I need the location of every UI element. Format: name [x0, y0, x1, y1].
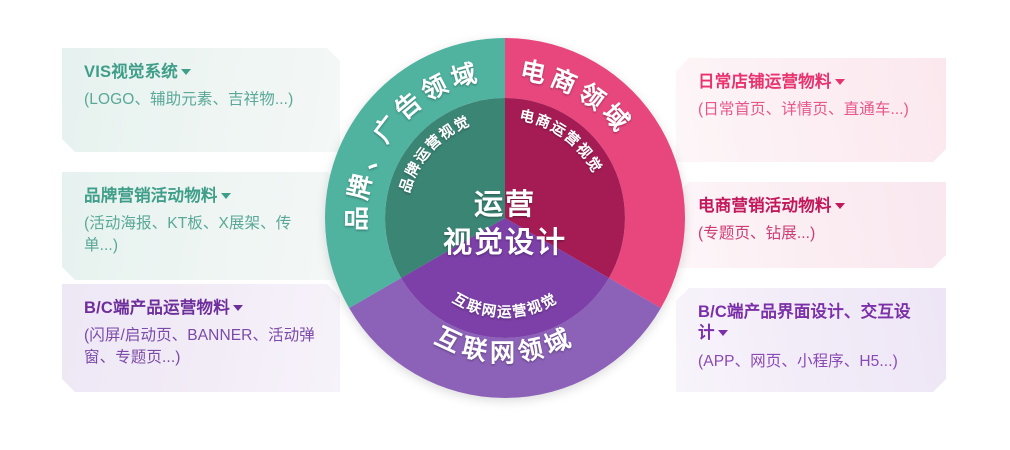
donut-center-line2: 视觉设计 [443, 226, 567, 259]
infographic-canvas: VIS视觉系统 (LOGO、辅助元素、吉祥物...) 品牌营销活动物料 (活动海… [0, 0, 1010, 450]
donut-center-line1: 运营 [474, 188, 536, 221]
chevron-down-icon [221, 193, 231, 199]
chevron-down-icon [181, 69, 191, 75]
card-title: B/C端产品运营物料 [84, 298, 320, 319]
card-brand-marketing[interactable]: 品牌营销活动物料 (活动海报、KT板、X展架、传单...) [62, 172, 340, 280]
card-bc-product-ops[interactable]: B/C端产品运营物料 (闪屏/启动页、BANNER、活动弹窗、专题页...) [62, 284, 340, 392]
card-vis-system[interactable]: VIS视觉系统 (LOGO、辅助元素、吉祥物...) [62, 48, 340, 152]
card-bc-ui-interaction[interactable]: B/C端产品界面设计、交互设计 (APP、网页、小程序、H5...) [676, 288, 946, 392]
chevron-down-icon [835, 203, 845, 209]
chevron-down-icon [835, 79, 845, 85]
card-subtitle: (APP、网页、小程序、H5...) [698, 351, 926, 372]
card-subtitle: (专题页、钻展...) [698, 223, 926, 244]
card-subtitle: (日常首页、详情页、直通车...) [698, 99, 926, 120]
card-ecommerce-marketing[interactable]: 电商营销活动物料 (专题页、钻展...) [676, 182, 946, 268]
card-title: 电商营销活动物料 [698, 196, 926, 217]
chevron-down-icon [233, 305, 243, 311]
chevron-down-icon [718, 330, 728, 336]
donut-diagram: 品牌、广告领域 电商领域 互联网领域 品牌运营视觉 电商运营视觉 互联网运营 [325, 38, 685, 398]
card-title: 品牌营销活动物料 [84, 186, 320, 207]
card-subtitle: (LOGO、辅助元素、吉祥物...) [84, 89, 320, 110]
card-daily-shop-ops[interactable]: 日常店铺运营物料 (日常首页、详情页、直通车...) [676, 58, 946, 162]
card-title: VIS视觉系统 [84, 62, 320, 83]
card-title: 日常店铺运营物料 [698, 72, 926, 93]
card-subtitle: (闪屏/启动页、BANNER、活动弹窗、专题页...) [84, 325, 320, 368]
card-title: B/C端产品界面设计、交互设计 [698, 302, 926, 345]
card-subtitle: (活动海报、KT板、X展架、传单...) [84, 213, 320, 256]
